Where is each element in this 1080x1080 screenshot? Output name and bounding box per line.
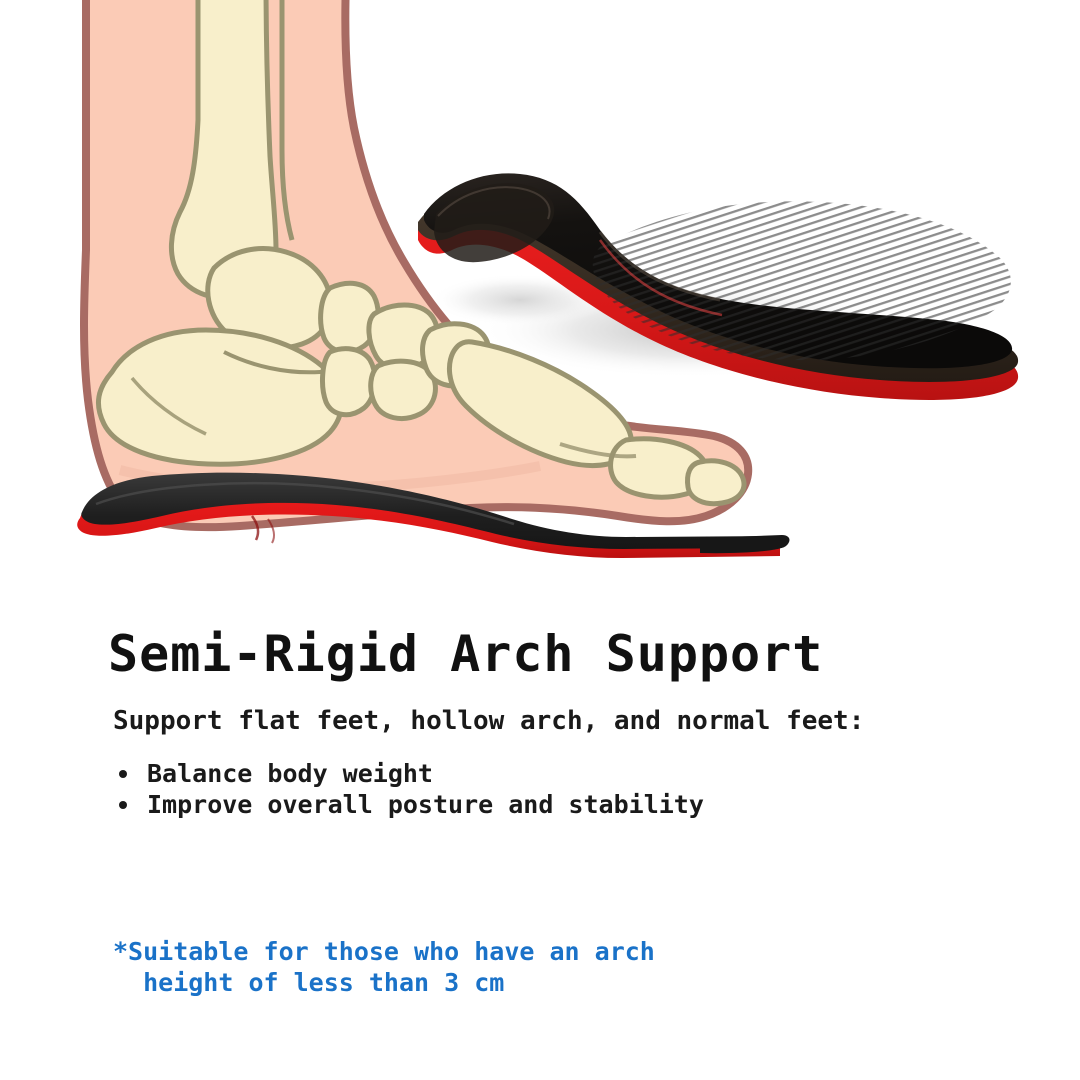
list-item-label: Improve overall posture and stability xyxy=(147,790,704,819)
list-item: Balance body weight xyxy=(113,758,704,789)
benefits-list: Balance body weight Improve overall post… xyxy=(113,758,704,820)
list-item: Improve overall posture and stability xyxy=(113,789,704,820)
bullet-icon xyxy=(119,770,127,778)
bone-phalanx-distal xyxy=(688,461,744,504)
list-item-label: Balance body weight xyxy=(147,759,433,788)
illustration-svg xyxy=(0,0,1080,600)
product-infographic: Semi-Rigid Arch Support Support flat fee… xyxy=(0,0,1080,1080)
bone-cuboid xyxy=(323,349,375,415)
page-title: Semi-Rigid Arch Support xyxy=(108,624,823,684)
footnote-text: *Suitable for those who have an arch hei… xyxy=(113,936,655,998)
illustration-area xyxy=(0,0,1080,600)
support-lead-text: Support flat feet, hollow arch, and norm… xyxy=(113,704,864,738)
text-content-block: Semi-Rigid Arch Support Support flat fee… xyxy=(0,600,1080,1080)
bullet-icon xyxy=(119,801,127,809)
